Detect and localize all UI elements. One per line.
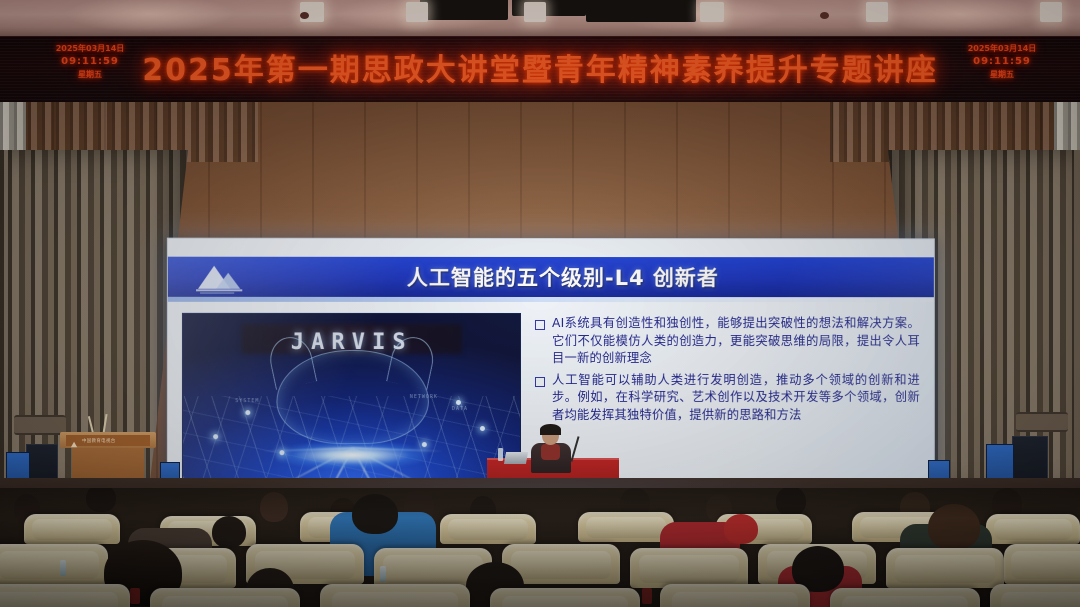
ceiling-equipment-box — [586, 0, 696, 22]
clock-weekday: 星期五 — [954, 68, 1050, 81]
audience-seat — [320, 584, 470, 607]
speaker-scarf — [541, 444, 560, 460]
clock-date: 2025年03月14日 — [954, 42, 1050, 55]
bullet-text: AI系统具有创造性和独创性，能够提出突破性的想法和解决方案。它们不仅能模仿人类的… — [552, 315, 920, 368]
audience-head — [724, 514, 758, 544]
ceiling-spot — [300, 12, 309, 19]
network-node — [480, 426, 485, 431]
audience-area — [0, 488, 1080, 607]
lecture-hall-photo: 2025年03月14日 09:11:59 星期五 2025年第一期思政大讲堂暨青… — [0, 0, 1080, 607]
ceiling-light — [1040, 2, 1062, 22]
audience-seat — [440, 514, 536, 544]
audience-seat — [150, 588, 300, 607]
led-banner: 2025年03月14日 09:11:59 星期五 2025年第一期思政大讲堂暨青… — [0, 36, 1080, 105]
image-micro-label: SYSTEM — [235, 398, 259, 404]
audience-head — [928, 504, 980, 550]
speaker-person — [529, 426, 573, 472]
water-bottle — [380, 566, 386, 582]
slide-bullet-item: AI系统具有创造性和独创性，能够提出突破性的想法和解决方案。它们不仅能模仿人类的… — [535, 315, 920, 368]
image-micro-label: NETWORK — [410, 394, 438, 400]
slide-header-bar: 人工智能的五个级别-L4 创新者 — [168, 257, 934, 297]
ceiling-light — [700, 2, 724, 22]
speaker-hair — [540, 424, 561, 435]
audience-head — [352, 494, 398, 534]
audience-seat — [0, 584, 130, 607]
curtain-tieback-right — [1016, 412, 1068, 432]
audience-seat — [830, 588, 980, 607]
laptop — [504, 452, 528, 464]
bullet-square-icon — [535, 320, 545, 330]
audience-head — [212, 516, 246, 548]
slide-bullet-item: 人工智能可以辅助人类进行发明创造，推动多个领域的创新和进步。例如，在科学研究、艺… — [535, 371, 920, 424]
bullet-square-icon — [535, 377, 545, 387]
slide-bullet-list: AI系统具有创造性和独创性，能够提出突破性的想法和解决方案。它们不仅能模仿人类的… — [535, 313, 920, 482]
seat-post — [130, 588, 140, 604]
ceiling-light — [866, 2, 888, 22]
network-node — [456, 400, 461, 405]
banner-clock-right: 2025年03月14日 09:11:59 星期五 — [954, 42, 1050, 81]
audience-seat — [630, 548, 748, 588]
ceiling-light — [406, 2, 428, 22]
slide-title: 人工智能的五个级别-L4 创新者 — [168, 262, 934, 292]
clock-time: 09:11:59 — [954, 55, 1050, 68]
water-bottle — [60, 560, 66, 576]
ceiling-light — [524, 2, 546, 22]
audience-seat — [24, 514, 120, 544]
audience-head — [776, 488, 806, 516]
network-node — [213, 434, 218, 439]
audience-seat — [0, 544, 108, 584]
ceiling-spot — [820, 12, 829, 19]
audience-seat — [886, 548, 1004, 588]
audience-seat — [986, 514, 1080, 544]
curtain-tieback-left — [14, 415, 66, 435]
banner-headline: 2025年第一期思政大讲堂暨青年精神素养提升专题讲座 — [0, 45, 1080, 89]
seat-post — [642, 588, 652, 604]
water-bottle — [498, 448, 503, 461]
mountain-triangle-logo-icon — [190, 261, 252, 295]
audience-head — [86, 488, 116, 512]
network-node — [279, 450, 284, 455]
podium-logo-icon — [70, 436, 79, 445]
slide-image-jarvis: JARVIS SYSTEM NETWORK D — [182, 313, 521, 479]
audience-seat — [990, 584, 1080, 607]
bullet-text: 人工智能可以辅助人类进行发明创造，推动多个领域的创新和进步。例如，在科学研究、艺… — [552, 371, 920, 424]
energy-core-glow — [276, 442, 426, 468]
network-node — [245, 410, 250, 415]
audience-seat — [490, 588, 640, 607]
audience-seat — [1004, 544, 1080, 584]
podium-nameplate: 中国教育电视台 — [66, 435, 150, 446]
network-node — [422, 442, 427, 447]
ceiling-equipment-box — [420, 0, 508, 20]
audience-head — [260, 492, 288, 522]
podium-plate-text: 中国教育电视台 — [82, 438, 116, 444]
image-micro-label: DATA — [452, 406, 468, 412]
audience-seat — [660, 584, 810, 607]
